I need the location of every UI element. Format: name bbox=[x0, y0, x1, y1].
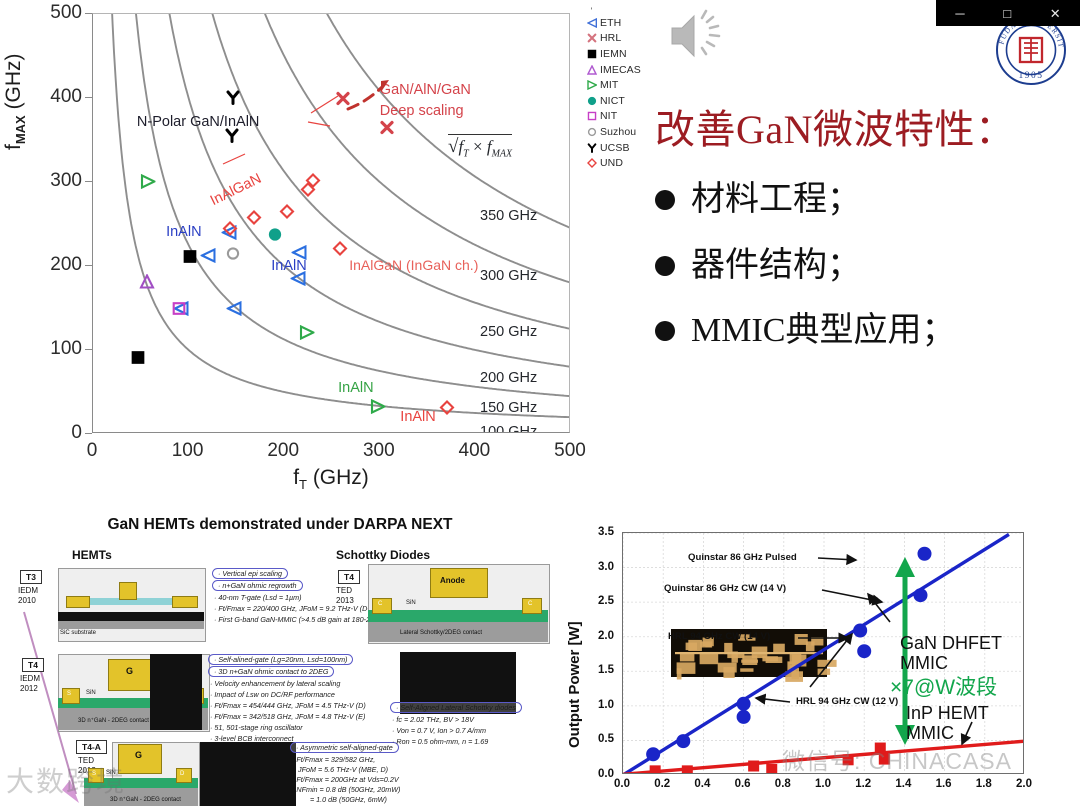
data-point-iemn bbox=[130, 350, 145, 370]
legend-row-nict[interactable]: NICT bbox=[583, 93, 663, 109]
t3-bullet-oval-1: · Vertical epi scaling bbox=[212, 568, 288, 579]
data-point-mit bbox=[370, 399, 385, 419]
iso-label-350: 350 GHz bbox=[480, 208, 537, 224]
data-point-und bbox=[332, 241, 347, 261]
data-point-suzhou bbox=[225, 246, 240, 266]
t4a-sem-image bbox=[200, 742, 296, 806]
power-annotation-3: HRL 94 GHz CW (12 V) bbox=[796, 696, 898, 707]
t4a-sin-label: SiN bbox=[106, 770, 116, 776]
power-y-tick-1.0: 1.0 bbox=[560, 699, 614, 711]
power-y-tick-1.5: 1.5 bbox=[560, 664, 614, 676]
chart-annotation-1: GaN/AlN/GaN bbox=[380, 81, 471, 97]
diamond-icon bbox=[583, 158, 600, 168]
legend-label: IMECAS bbox=[600, 64, 641, 76]
column-title-hemts: HEMTs bbox=[72, 548, 112, 562]
t4a-bullet-3: JFoM = 5.6 THz-V (MBE, D) bbox=[292, 765, 388, 775]
legend-top-dash: ' bbox=[583, 6, 600, 16]
t3-buffer-layer bbox=[58, 621, 204, 629]
y-tick-0: 0 bbox=[0, 422, 82, 444]
bullet-dot-icon bbox=[655, 190, 675, 210]
iso-curve-300 bbox=[253, 14, 570, 282]
chart-legend: ' ETHHRLIEMNIMECASMITNICTNITSuzhouUCSBUN… bbox=[583, 6, 663, 171]
inp-callout-line2: MMIC bbox=[906, 724, 954, 743]
legend-label: Suzhou bbox=[600, 126, 636, 138]
power-point-gan bbox=[918, 547, 932, 561]
y-tick-mark-200 bbox=[85, 265, 92, 266]
window-controls-bar: ─ □ ✕ bbox=[936, 0, 1080, 26]
square-icon bbox=[583, 49, 600, 59]
power-y-tick-3.5: 3.5 bbox=[560, 526, 614, 538]
legend-label: NICT bbox=[600, 95, 625, 107]
x-tick-500: 500 bbox=[554, 440, 586, 462]
power-point-inp bbox=[843, 754, 854, 765]
data-point-ucsb bbox=[224, 128, 239, 148]
power-point-gan bbox=[913, 588, 927, 602]
slide-title: 改善GaN微波特性： bbox=[655, 108, 1075, 152]
power-x-tick-2.0: 2.0 bbox=[1016, 778, 1032, 790]
t4-bullet-7: · 51, 501-stage ring oscillator bbox=[210, 723, 303, 733]
power-point-gan bbox=[853, 623, 867, 637]
data-point-und bbox=[246, 210, 261, 230]
plot-area: N-Polar GaN/InAlNGaN/AlN/GaNDeep scaling… bbox=[92, 13, 570, 433]
y-tick-500: 500 bbox=[0, 2, 82, 24]
x-tick-300: 300 bbox=[363, 440, 395, 462]
iso-formula: √fT × fMAX bbox=[448, 134, 512, 159]
data-point-ucsb bbox=[225, 90, 240, 110]
power-point-gan bbox=[737, 710, 751, 724]
x-tick-100: 100 bbox=[172, 440, 204, 462]
chart-annotation-5: InAlN bbox=[271, 258, 306, 274]
legend-label: ETH bbox=[600, 17, 621, 29]
t3-bullet-oval-2: · n+GaN ohmic regrowth bbox=[212, 580, 303, 591]
speaker-icon[interactable] bbox=[666, 8, 730, 64]
maximize-button[interactable]: □ bbox=[1003, 7, 1011, 20]
square-icon bbox=[583, 111, 600, 121]
bullet-item-2: MMIC典型应用； bbox=[655, 313, 1075, 349]
power-point-gan bbox=[676, 734, 690, 748]
t4a-source-label: S bbox=[92, 771, 96, 777]
data-point-eth bbox=[200, 248, 215, 268]
iso-label-250: 250 GHz bbox=[480, 324, 537, 340]
power-point-inp bbox=[650, 765, 661, 774]
legend-row-und[interactable]: UND bbox=[583, 155, 663, 171]
data-point-und bbox=[222, 221, 237, 241]
column-title-schottky: Schottky Diodes bbox=[336, 548, 430, 562]
power-point-gan bbox=[737, 697, 751, 711]
power-y-tick-2.0: 2.0 bbox=[560, 630, 614, 642]
power-x-tick-1.6: 1.6 bbox=[936, 778, 952, 790]
t4a-bullet-6: = 1.0 dB (50GHz, 6mW) bbox=[292, 795, 387, 805]
data-point-nit bbox=[172, 301, 187, 321]
data-point-hrl bbox=[336, 91, 351, 111]
data-point-mit bbox=[141, 174, 156, 194]
y-tick-mark-100 bbox=[85, 349, 92, 350]
power-x-tick-0.6: 0.6 bbox=[735, 778, 751, 790]
y-tick-100: 100 bbox=[0, 338, 82, 360]
t4-bullet-5: · Ft/Fmax = 454/444 GHz, JFoM = 4.5 THz-… bbox=[210, 701, 366, 711]
power-annotation-0: Quinstar 86 GHz Pulsed bbox=[688, 552, 797, 563]
cross-x-icon bbox=[583, 33, 600, 43]
diode-contact-right-label: C bbox=[528, 601, 532, 607]
diode-lateral-label: Lateral Schottky/2DEG contact bbox=[400, 630, 482, 636]
legend-row-suzhou[interactable]: Suzhou bbox=[583, 124, 663, 140]
triangle-right-icon bbox=[583, 80, 600, 90]
t3-source-pad bbox=[66, 596, 90, 608]
data-point-hrl bbox=[380, 120, 395, 140]
circle-icon bbox=[583, 96, 600, 106]
legend-row-iemn[interactable]: IEMN bbox=[583, 46, 663, 62]
data-point-und bbox=[439, 400, 454, 420]
t4-sem-image bbox=[150, 654, 202, 730]
output-power-chart: Output Power [W] 0.00.51.01.52.02.53.03.… bbox=[560, 512, 1080, 806]
close-button[interactable]: ✕ bbox=[1050, 7, 1061, 20]
diode-contact-left-label: C bbox=[378, 601, 382, 607]
x-tick-0: 0 bbox=[87, 440, 98, 462]
power-point-inp bbox=[748, 761, 759, 772]
data-point-nict bbox=[267, 227, 282, 247]
legend-label: NIT bbox=[600, 110, 617, 122]
power-x-tick-0.8: 0.8 bbox=[775, 778, 791, 790]
power-y-tick-0.0: 0.0 bbox=[560, 768, 614, 780]
x-tick-200: 200 bbox=[267, 440, 299, 462]
t4-source-label: S bbox=[67, 691, 71, 697]
power-point-gan bbox=[857, 644, 871, 658]
power-point-inp bbox=[879, 754, 890, 765]
power-x-tick-1.0: 1.0 bbox=[815, 778, 831, 790]
iso-curve-350 bbox=[311, 14, 571, 228]
t4a-bullet-4: · Ft/Fmax = 200GHz at Vds=0.2V bbox=[292, 775, 399, 785]
t4-gate-label: G bbox=[126, 666, 133, 676]
x-axis-label: fT (GHz) bbox=[92, 466, 570, 492]
power-x-tick-1.8: 1.8 bbox=[976, 778, 992, 790]
minimize-button[interactable]: ─ bbox=[955, 7, 964, 20]
power-annotation-2: HRL 94 GHz CW (14 V) bbox=[668, 631, 770, 642]
data-point-mit bbox=[300, 325, 315, 345]
iso-label-200: 200 GHz bbox=[480, 370, 537, 386]
power-point-inp bbox=[682, 765, 693, 774]
power-point-gan bbox=[646, 747, 660, 761]
t4a-gate-label: G bbox=[135, 750, 142, 760]
legend-row-eth[interactable]: ETH bbox=[583, 15, 663, 31]
y-tick-mark-500 bbox=[85, 13, 92, 14]
diode-bullet-3: · Von = 0.7 V, Ion > 0.7 A/mm bbox=[392, 726, 486, 736]
diode-bullet-4: · Ron = 0.5 ohm-mm, n = 1.69 bbox=[392, 737, 488, 747]
power-annotation-1: Quinstar 86 GHz CW (14 V) bbox=[664, 583, 786, 594]
t4a-bullet-5: · NFmin = 0.8 dB (50GHz, 20mW) bbox=[292, 785, 400, 795]
inp-callout-line1: InP HEMT bbox=[906, 704, 989, 723]
y-tick-300: 300 bbox=[0, 170, 82, 192]
power-y-tick-3.0: 3.0 bbox=[560, 561, 614, 573]
darpa-figure-title: GaN HEMTs demonstrated under DARPA NEXT bbox=[0, 516, 560, 534]
legend-label: MIT bbox=[600, 79, 618, 91]
data-point-imecas bbox=[140, 274, 155, 294]
legend-label: UCSB bbox=[600, 142, 630, 154]
bullet-text: MMIC典型应用； bbox=[691, 313, 955, 349]
t3-substrate-layer bbox=[58, 612, 204, 621]
t4-bullet-3: · Velocity enhancement by lateral scalin… bbox=[210, 679, 340, 689]
y-tick-200: 200 bbox=[0, 254, 82, 276]
t4a-drain-label: D bbox=[180, 771, 184, 777]
y-tick-mark-300 bbox=[85, 181, 92, 182]
diode-ngan-layer bbox=[368, 610, 548, 622]
card-tag-t4: T4 bbox=[22, 658, 44, 672]
t4-bullet-oval-2: · 3D n+GaN ohmic contact to 2DEG bbox=[208, 666, 334, 677]
card-tag-t3: T3 bbox=[20, 570, 42, 584]
t4-bullet-oval-1: · Self-alined-gate (Lg=20nm, Lsd=100nm) bbox=[208, 654, 353, 665]
t3-substrate-label: SiC substrate bbox=[60, 630, 96, 636]
slide-text-block: 改善GaN微波特性： 材料工程；器件结构；MMIC典型应用； bbox=[655, 108, 1075, 349]
t4-bullet-4: · Impact of Lsw on DC/RF performance bbox=[210, 690, 335, 700]
t3-bullet-4: · Ft/Fmax = 220/400 GHz, JFoM = 9.2 THz-… bbox=[214, 604, 390, 614]
triangle-left-icon bbox=[583, 18, 600, 28]
legend-label: IEMN bbox=[600, 48, 627, 60]
ft-fmax-chart: fMAX (GHz) fT (GHz) N-Polar GaN/InAlNGaN… bbox=[0, 0, 620, 500]
chart-annotation-0: N-Polar GaN/InAlN bbox=[137, 113, 259, 129]
diode-sin-label: SiN bbox=[406, 600, 416, 606]
darpa-next-figure: GaN HEMTs demonstrated under DARPA NEXT … bbox=[0, 512, 560, 806]
chart-annotation-8: InAlN bbox=[400, 409, 435, 425]
iso-label-100: 100 GHz bbox=[480, 424, 537, 433]
gan-callout-line2: MMIC bbox=[900, 654, 948, 673]
y-tick-400: 400 bbox=[0, 86, 82, 108]
data-point-eth bbox=[227, 301, 242, 321]
power-y-tick-2.5: 2.5 bbox=[560, 595, 614, 607]
bullet-item-1: 器件结构； bbox=[655, 248, 1075, 284]
diode-bullet-oval-1: · Self-Aligned Lateral Schottky diodes bbox=[390, 702, 522, 713]
chart-annotation-4: InAlN bbox=[166, 224, 201, 240]
legend-label: UND bbox=[600, 157, 623, 169]
svg-text:1905: 1905 bbox=[1019, 71, 1044, 81]
power-point-inp bbox=[766, 764, 777, 774]
card-venue-diode: TED2013 bbox=[336, 586, 354, 606]
bullet-text: 器件结构； bbox=[691, 248, 861, 284]
bullet-list: 材料工程；器件结构；MMIC典型应用； bbox=[655, 182, 1075, 349]
t3-bullet-3: · 40-nm T-gate (Lsd = 1µm) bbox=[214, 593, 302, 603]
legend-row-imecas[interactable]: IMECAS bbox=[583, 62, 663, 78]
t3-drain-pad bbox=[172, 596, 198, 608]
y-tick-mark-0 bbox=[85, 433, 92, 434]
card-tag-t4a: T4-A bbox=[76, 740, 107, 754]
t4a-ohmic-label: 3D n⁺GaN - 2DEG contact bbox=[110, 796, 181, 803]
power-x-tick-0.2: 0.2 bbox=[654, 778, 670, 790]
gan-callout-line1: GaN DHFET bbox=[900, 634, 1002, 653]
t4a-bullet-2: · Ft/Fmax = 329/582 GHz, bbox=[292, 755, 375, 765]
y-tick-mark-400 bbox=[85, 97, 92, 98]
t4-sin-label: SiN bbox=[86, 690, 96, 696]
bullet-item-0: 材料工程； bbox=[655, 182, 1075, 218]
circle-icon bbox=[583, 127, 600, 137]
power-x-tick-1.4: 1.4 bbox=[895, 778, 911, 790]
legend-row-nit[interactable]: NIT bbox=[583, 109, 663, 125]
card-venue-t3: IEDM2010 bbox=[18, 586, 38, 606]
legend-label: HRL bbox=[600, 32, 621, 44]
bullet-dot-icon bbox=[655, 256, 675, 276]
t4-ohmic-label: 3D n⁺GaN - 2DEG contact bbox=[78, 717, 149, 724]
data-point-und bbox=[301, 182, 316, 202]
data-point-und bbox=[280, 204, 295, 224]
legend-row-mit[interactable]: MIT bbox=[583, 77, 663, 93]
power-x-tick-0.0: 0.0 bbox=[614, 778, 630, 790]
diode-bullet-2: · fc = 2.02 THz, BV > 18V bbox=[392, 715, 474, 725]
iso-label-300: 300 GHz bbox=[480, 268, 537, 284]
card-venue-t4: IEDM2012 bbox=[20, 674, 40, 694]
power-x-tick-0.4: 0.4 bbox=[694, 778, 710, 790]
chart-annotation-2: Deep scaling bbox=[380, 102, 464, 118]
data-point-iemn bbox=[182, 249, 197, 269]
chart-annotation-6: InAlGaN (InGaN ch.) bbox=[349, 258, 478, 274]
x-tick-400: 400 bbox=[459, 440, 491, 462]
t3-gate bbox=[119, 582, 137, 600]
diode-anode-label: Anode bbox=[440, 576, 465, 585]
bullet-text: 材料工程； bbox=[691, 182, 861, 218]
triangle-up-icon bbox=[583, 65, 600, 75]
iso-label-150: 150 GHz bbox=[480, 400, 537, 416]
t4a-bullet-oval-1: · Asymmetric self-aligned-gate bbox=[290, 742, 399, 753]
chart-annotation-7: InAlN bbox=[338, 380, 373, 396]
y-glyph-icon bbox=[583, 143, 600, 153]
power-y-tick-0.5: 0.5 bbox=[560, 733, 614, 745]
power-point-inp bbox=[875, 743, 886, 754]
t4-bullet-6: · Ft/Fmax = 342/518 GHz, JFoM = 4.8 THz-… bbox=[210, 712, 365, 722]
card-tag-diode: T4 bbox=[338, 570, 360, 584]
power-x-tick-1.2: 1.2 bbox=[855, 778, 871, 790]
legend-row-ucsb[interactable]: UCSB bbox=[583, 140, 663, 156]
legend-row-hrl[interactable]: HRL bbox=[583, 31, 663, 47]
improvement-ratio-callout: ×7@W波段 bbox=[890, 677, 997, 698]
bullet-dot-icon bbox=[655, 321, 675, 341]
